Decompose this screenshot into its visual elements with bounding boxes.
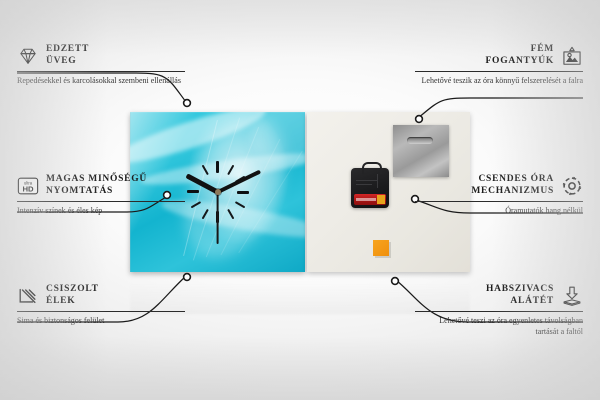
gear-icon — [561, 175, 583, 197]
callout-header: EDZETT ÜVEG — [17, 44, 185, 67]
callout-header: CSENDES ÓRA MECHANIZMUS — [415, 174, 583, 197]
callout-header: ultra HD MAGAS MINŐSÉGŰ NYOMTATÁS — [17, 174, 185, 197]
callout-subtitle: Lehetővé teszik az óra könnyű felszerelé… — [415, 76, 583, 87]
callout-header: HABSZIVACS ALÁTÉT — [415, 284, 583, 307]
divider — [415, 71, 583, 72]
divider — [17, 201, 185, 202]
metal-hanger-plate — [393, 125, 449, 177]
callout-edzett-uveg[interactable]: EDZETT ÜVEG Repedésekkel és karcolásokka… — [17, 44, 185, 87]
bevelled-edges-icon — [17, 285, 39, 307]
callout-csendes-ora-mechanizmus[interactable]: CSENDES ÓRA MECHANIZMUS Óramutatók hang … — [415, 174, 583, 217]
svg-text:HD: HD — [22, 184, 34, 193]
callout-header: CSISZOLT ÉLEK — [17, 284, 185, 307]
callout-title: EDZETT ÜVEG — [46, 44, 89, 67]
callout-subtitle: Óramutatók hang nélkül — [415, 206, 583, 217]
callout-fem-fogantyuk[interactable]: FÉM FOGANTYÚK Lehetővé teszik az óra kön… — [415, 44, 583, 87]
callout-subtitle: Sima és biztonságos felület — [17, 316, 185, 327]
clock-center-cap — [215, 189, 221, 195]
callout-habszivacs-alatet[interactable]: HABSZIVACS ALÁTÉT Lehetővé teszi az óra … — [415, 284, 583, 337]
ultra-hd-badge-icon: ultra HD — [17, 175, 39, 197]
picture-hanger-icon — [561, 45, 583, 67]
callout-magas-minosegu-nyomtatas[interactable]: ultra HD MAGAS MINŐSÉGŰ NYOMTATÁS Intenz… — [17, 174, 185, 217]
divider — [415, 201, 583, 202]
infographic-canvas: EDZETT ÜVEG Repedésekkel és karcolásokka… — [0, 0, 600, 400]
divider — [17, 71, 185, 72]
callout-title: HABSZIVACS ALÁTÉT — [486, 284, 554, 307]
foam-pad-arrow-icon — [561, 285, 583, 307]
divider — [17, 311, 185, 312]
callout-title: FÉM FOGANTYÚK — [486, 44, 555, 67]
callout-title: CSENDES ÓRA MECHANIZMUS — [471, 174, 554, 197]
callout-subtitle: Intenzív színek és éles kép — [17, 206, 185, 217]
diamond-icon — [17, 45, 39, 67]
callout-header: FÉM FOGANTYÚK — [415, 44, 583, 67]
callout-subtitle: Lehetővé teszi az óra egyenletes távolsá… — [415, 316, 583, 337]
mechanism-hook — [362, 162, 382, 174]
divider — [415, 311, 583, 312]
callout-title: CSISZOLT ÉLEK — [46, 284, 99, 307]
hanger-slot — [407, 137, 433, 144]
battery — [354, 194, 386, 205]
clock-mechanism — [351, 168, 389, 208]
callout-subtitle: Repedésekkel és karcolásokkal szembeni e… — [17, 76, 185, 87]
callout-title: MAGAS MINŐSÉGŰ NYOMTATÁS — [46, 174, 147, 197]
foam-spacer-pad — [373, 240, 389, 256]
clock-second-hand — [217, 192, 219, 244]
callout-csiszolt-elek[interactable]: CSISZOLT ÉLEK Sima és biztonságos felüle… — [17, 284, 185, 327]
